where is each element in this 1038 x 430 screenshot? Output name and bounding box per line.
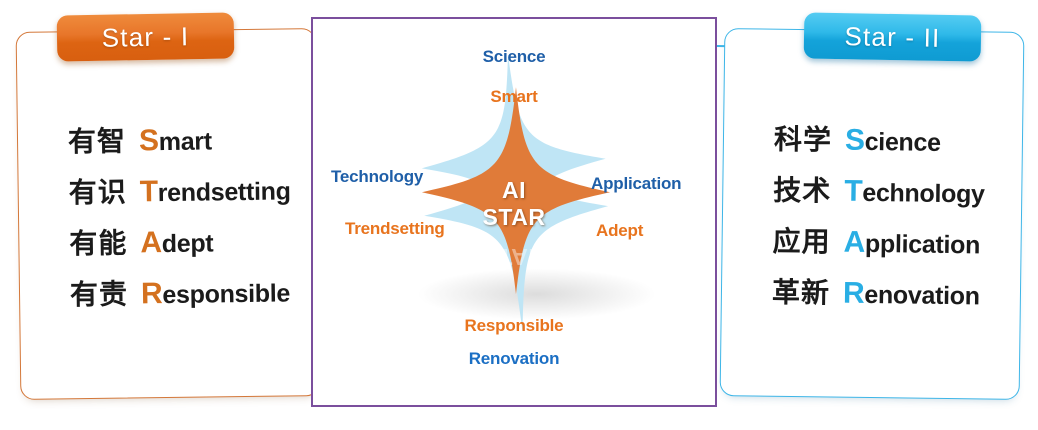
row-chinese-label: 革新 xyxy=(772,271,831,312)
row-english-label: Application xyxy=(843,226,980,262)
panel-star-diagram: Science Smart Technology Application Tre… xyxy=(311,17,717,407)
row-initial-letter: T xyxy=(140,175,158,208)
star-core-text: AI STAR xyxy=(313,177,715,230)
row-chinese-label: 技术 xyxy=(773,169,832,210)
list-item: 技术 Technology xyxy=(773,169,1022,223)
row-initial-letter: A xyxy=(140,226,162,259)
header-pill-star-two: Star - II xyxy=(804,12,982,61)
row-english-label: Responsible xyxy=(141,275,290,311)
star-two-row-list: 科学 Science 技术 Technology 应用 Application … xyxy=(722,117,1023,325)
list-item: 有责 Responsible xyxy=(70,270,319,324)
list-item: 有识 Trendsetting xyxy=(68,168,317,222)
row-word-rest: esponsible xyxy=(162,279,290,309)
row-initial-letter: T xyxy=(844,175,862,208)
list-item: 革新 Renovation xyxy=(772,271,1021,325)
ground-shadow xyxy=(418,268,656,319)
row-english-label: Science xyxy=(845,124,941,159)
header-pill-star-one: Star - I xyxy=(57,12,235,61)
ai-star-slide: 有智 Smart 有识 Trendsetting 有能 Adept 有责 Res… xyxy=(0,0,1038,430)
list-item: 应用 Application xyxy=(772,220,1021,274)
panel-star-one: 有智 Smart 有识 Trendsetting 有能 Adept 有责 Res… xyxy=(16,28,321,400)
row-word-rest: mart xyxy=(159,127,212,156)
row-word-rest: rendsetting xyxy=(158,177,291,207)
row-word-rest: enovation xyxy=(864,281,980,311)
row-chinese-label: 有能 xyxy=(69,222,128,263)
row-english-label: Smart xyxy=(139,123,212,158)
row-initial-letter: S xyxy=(139,124,159,157)
row-word-rest: pplication xyxy=(865,230,980,260)
label-renovation: Renovation xyxy=(313,349,715,369)
row-english-label: Adept xyxy=(140,225,213,260)
header-pill-star-two-label: Star - II xyxy=(844,21,941,54)
star-core-line-one: AI xyxy=(313,177,715,204)
row-initial-letter: S xyxy=(845,124,865,157)
row-chinese-label: 有智 xyxy=(68,120,127,161)
row-english-label: Technology xyxy=(844,175,985,211)
row-word-rest: echnology xyxy=(862,179,985,209)
row-initial-letter: R xyxy=(141,277,163,310)
star-core-reflection: STAR xyxy=(313,243,715,270)
row-chinese-label: 有识 xyxy=(68,171,127,212)
star-core-line-two: STAR xyxy=(313,204,715,231)
list-item: 科学 Science xyxy=(774,118,1023,172)
row-english-label: Trendsetting xyxy=(140,173,291,209)
row-english-label: Renovation xyxy=(843,277,980,313)
label-science: Science xyxy=(313,47,715,67)
list-item: 有智 Smart xyxy=(68,117,317,171)
header-pill-star-one-label: Star - I xyxy=(101,21,189,54)
row-chinese-label: 应用 xyxy=(772,220,831,261)
star-one-row-list: 有智 Smart 有识 Trendsetting 有能 Adept 有责 Res… xyxy=(18,117,319,325)
row-chinese-label: 科学 xyxy=(774,118,833,159)
list-item: 有能 Adept xyxy=(69,219,318,273)
label-smart: Smart xyxy=(313,87,715,107)
row-initial-letter: A xyxy=(843,226,865,259)
row-chinese-label: 有责 xyxy=(70,273,129,314)
row-initial-letter: R xyxy=(843,277,865,310)
label-responsible: Responsible xyxy=(313,316,715,336)
row-word-rest: dept xyxy=(162,229,214,258)
panel-star-two: 科学 Science 技术 Technology 应用 Application … xyxy=(720,28,1025,400)
row-word-rest: cience xyxy=(864,128,940,157)
